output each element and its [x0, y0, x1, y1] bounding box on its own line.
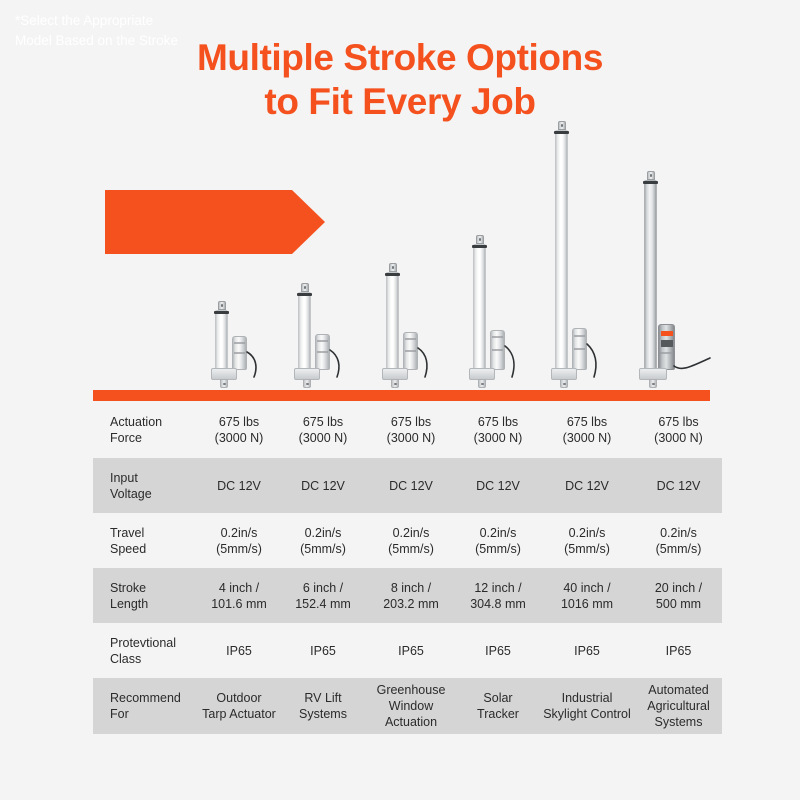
table-cell: IP65 [635, 643, 722, 659]
table-cell: DC 12V [197, 478, 281, 494]
rod-collar [385, 273, 400, 276]
product-image-strip [93, 100, 722, 388]
callout-line-2: Model Based on the Stroke [15, 31, 190, 51]
table-cell: DC 12V [457, 478, 539, 494]
table-cell: 675 lbs (3000 N) [365, 414, 457, 446]
motor-band [492, 349, 503, 351]
table-cell: DC 12V [539, 478, 635, 494]
clevis-eyelet-icon [476, 235, 484, 244]
table-cell: 675 lbs (3000 N) [635, 414, 722, 446]
base-foot [220, 379, 228, 388]
actuator-rod [644, 180, 657, 372]
base-foot [303, 379, 311, 388]
motor-band [234, 342, 245, 344]
rod-collar [214, 311, 229, 314]
product-actuator-20-inch [644, 166, 704, 388]
product-actuator-8-inch [386, 258, 432, 388]
rod-collar [643, 181, 658, 184]
table-cell: Outdoor Tarp Actuator [197, 690, 281, 722]
table-cell: 675 lbs (3000 N) [539, 414, 635, 446]
rod-collar [554, 131, 569, 134]
table-cell: IP65 [365, 643, 457, 659]
clevis-eyelet-icon [558, 121, 566, 130]
product-actuator-40-inch [555, 116, 601, 388]
power-cable-icon [245, 350, 267, 380]
table-cell: Greenhouse Window Actuation [365, 682, 457, 730]
product-actuator-6-inch [298, 278, 344, 388]
table-cell: 0.2in/s (5mm/s) [539, 525, 635, 557]
motor-control-label [661, 340, 673, 347]
power-cable-icon [503, 344, 525, 380]
table-cell: 20 inch / 500 mm [635, 580, 722, 612]
table-cell: 4 inch / 101.6 mm [197, 580, 281, 612]
table-row: Recommend For Outdoor Tarp Actuator RV L… [93, 678, 722, 734]
power-cable-icon [585, 342, 607, 380]
table-header-accent-bar [93, 390, 710, 401]
motor-band [405, 350, 416, 352]
table-cell: IP65 [197, 643, 281, 659]
table-cell: 0.2in/s (5mm/s) [457, 525, 539, 557]
table-row: Actuation Force 675 lbs (3000 N) 675 lbs… [93, 401, 722, 458]
table-cell: 675 lbs (3000 N) [197, 414, 281, 446]
clevis-eyelet-icon [389, 263, 397, 272]
motor-band [405, 338, 416, 340]
motor-band [234, 352, 245, 354]
table-cell: 0.2in/s (5mm/s) [197, 525, 281, 557]
base-foot [560, 379, 568, 388]
rod-collar [472, 245, 487, 248]
clevis-eyelet-icon [218, 301, 226, 310]
table-row: Travel Speed 0.2in/s (5mm/s) 0.2in/s (5m… [93, 513, 722, 568]
table-cell: 6 inch / 152.4 mm [281, 580, 365, 612]
actuator-rod [215, 310, 228, 372]
table-cell: DC 12V [365, 478, 457, 494]
table-cell: 40 inch / 1016 mm [539, 580, 635, 612]
table-cell: DC 12V [281, 478, 365, 494]
product-actuator-12-inch [473, 230, 519, 388]
table-cell: 0.2in/s (5mm/s) [365, 525, 457, 557]
actuator-rod [298, 292, 311, 372]
clevis-eyelet-icon [647, 171, 655, 180]
row-label: Protevtional Class [93, 635, 197, 667]
row-label: Recommend For [93, 690, 197, 722]
clevis-eyelet-icon [301, 283, 309, 292]
table-cell: IP65 [457, 643, 539, 659]
motor-band [492, 336, 503, 338]
table-cell: 0.2in/s (5mm/s) [281, 525, 365, 557]
row-label: Actuation Force [93, 414, 197, 446]
table-cell: RV Lift Systems [281, 690, 365, 722]
base-foot [391, 379, 399, 388]
table-row: Stroke Length 4 inch / 101.6 mm 6 inch /… [93, 568, 722, 623]
product-actuator-4-inch [215, 296, 261, 388]
infographic-page: Multiple Stroke Options to Fit Every Job… [0, 0, 800, 800]
base-foot [478, 379, 486, 388]
row-label: Input Voltage [93, 470, 197, 502]
table-cell: 675 lbs (3000 N) [281, 414, 365, 446]
power-cable-icon [416, 346, 438, 380]
table-cell: IP65 [281, 643, 365, 659]
motor-band [574, 348, 585, 350]
power-cable-icon [672, 344, 712, 374]
table-cell: DC 12V [635, 478, 722, 494]
table-cell: IP65 [539, 643, 635, 659]
base-foot [649, 379, 657, 388]
specification-table: Actuation Force 675 lbs (3000 N) 675 lbs… [93, 390, 722, 734]
callout-line-1: *Select the Appropriate [15, 11, 190, 31]
actuator-rod [555, 130, 568, 372]
motor-orange-label [661, 331, 673, 336]
table-cell: 8 inch / 203.2 mm [365, 580, 457, 612]
motor-band [574, 335, 585, 337]
rod-collar [297, 293, 312, 296]
row-label: Stroke Length [93, 580, 197, 612]
table-row: Input Voltage DC 12V DC 12V DC 12V DC 12… [93, 458, 722, 513]
table-cell: 12 inch / 304.8 mm [457, 580, 539, 612]
table-cell: Automated Agricultural Systems [635, 682, 722, 730]
table-cell: Solar Tracker [457, 690, 539, 722]
actuator-rod [386, 272, 399, 372]
motor-band [317, 351, 328, 353]
table-row: Protevtional Class IP65 IP65 IP65 IP65 I… [93, 623, 722, 678]
actuator-rod [473, 244, 486, 372]
table-cell: 0.2in/s (5mm/s) [635, 525, 722, 557]
table-cell: 675 lbs (3000 N) [457, 414, 539, 446]
callout-banner-text: *Select the Appropriate Model Based on t… [15, 11, 190, 51]
motor-band [317, 340, 328, 342]
table-cell: Industrial Skylight Control [539, 690, 635, 722]
power-cable-icon [328, 348, 350, 380]
row-label: Travel Speed [93, 525, 197, 557]
